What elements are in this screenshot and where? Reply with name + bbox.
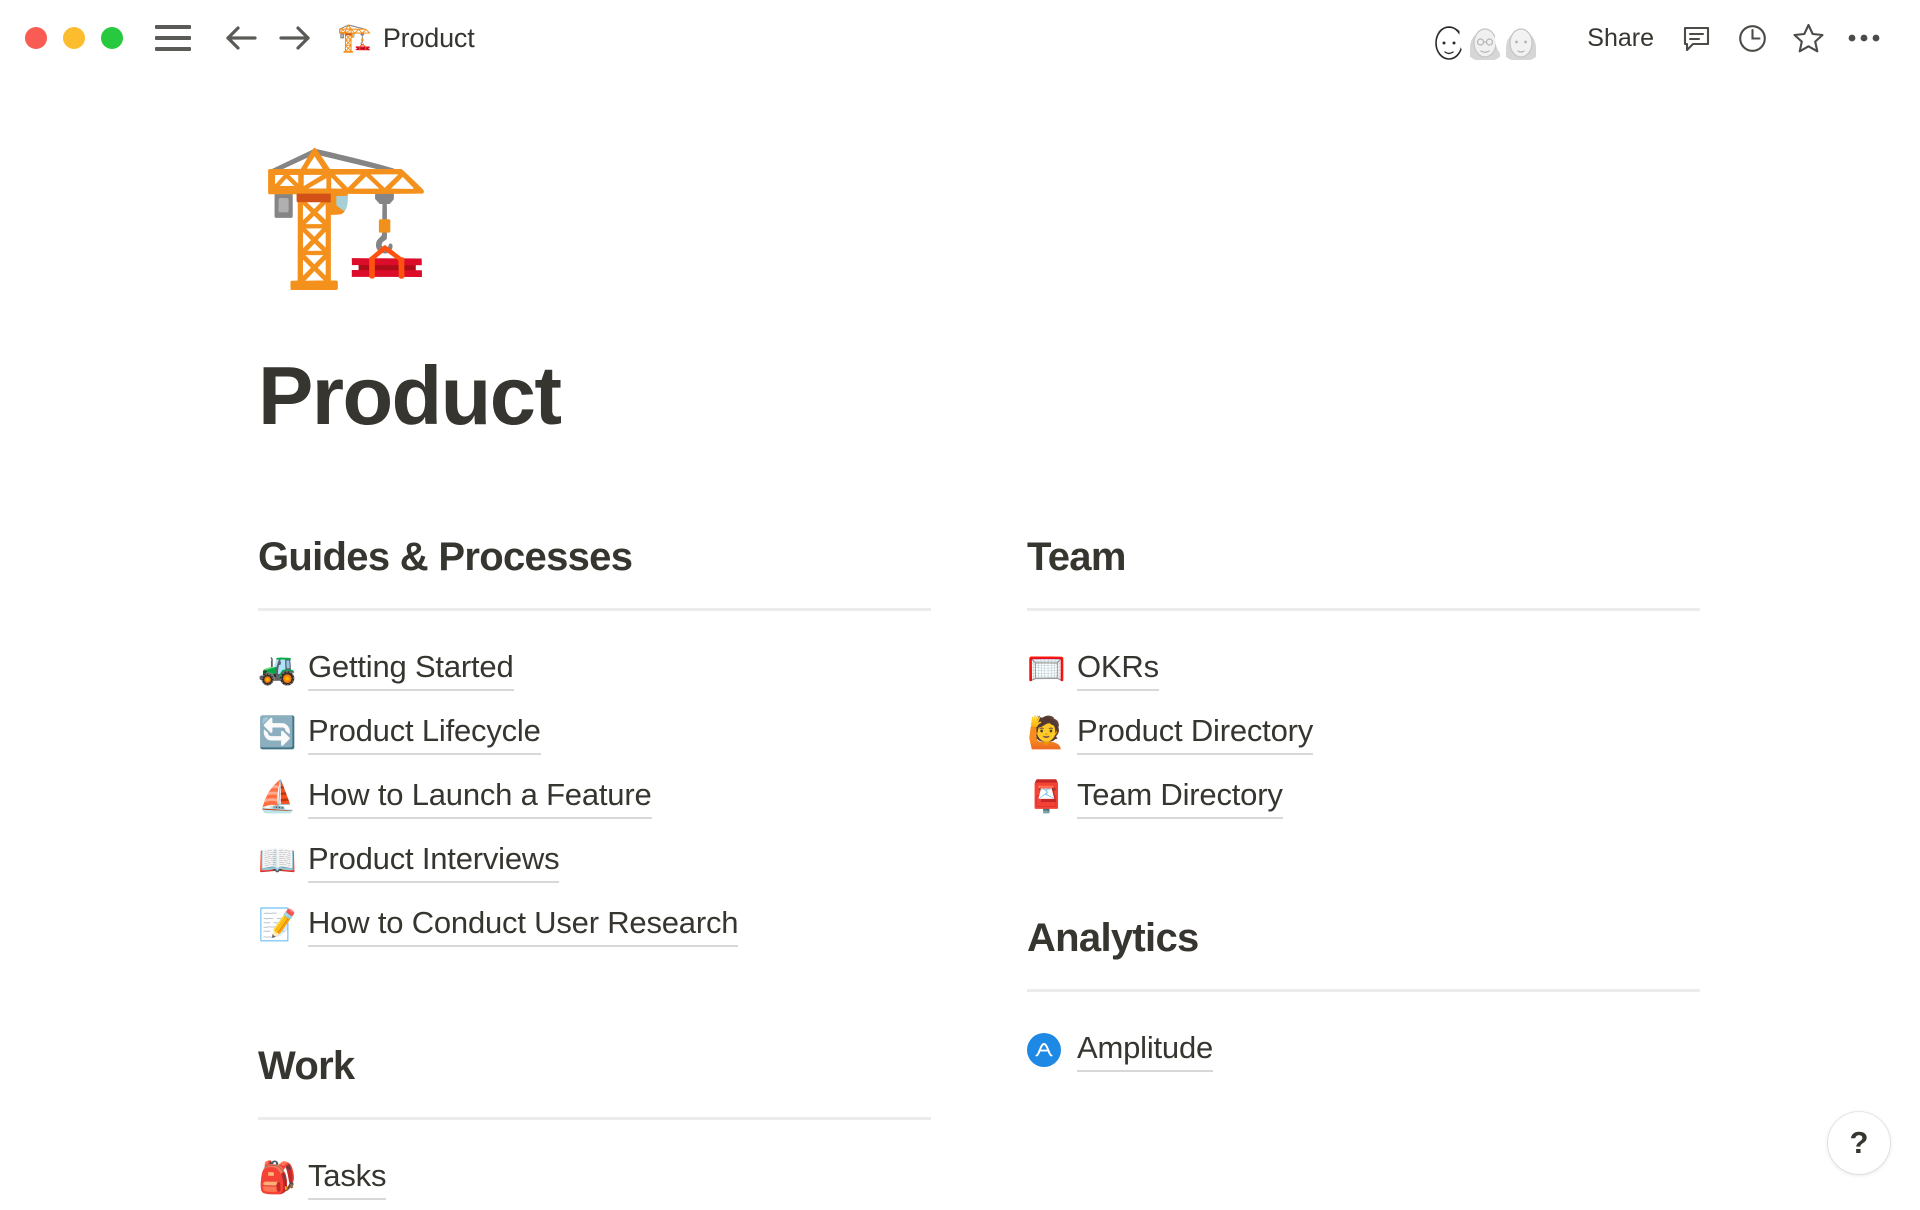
section-divider bbox=[258, 1117, 931, 1120]
list-item-label: Product Interviews bbox=[308, 840, 559, 883]
link-list: 🎒 Tasks bbox=[258, 1146, 931, 1210]
hamburger-menu-icon[interactable] bbox=[155, 24, 191, 52]
list-item-label: How to Launch a Feature bbox=[308, 776, 652, 819]
recycle-arrows-icon: 🔄 bbox=[258, 718, 296, 749]
list-item[interactable]: 🔄 Product Lifecycle bbox=[258, 701, 931, 765]
page-crane-icon[interactable]: 🏗️ bbox=[258, 134, 418, 294]
breadcrumb-label: Product bbox=[383, 23, 475, 54]
list-item-label: OKRs bbox=[1077, 648, 1159, 691]
hamburger-line bbox=[155, 47, 191, 51]
share-button[interactable]: Share bbox=[1573, 18, 1668, 59]
list-item-label: Amplitude bbox=[1077, 1029, 1213, 1072]
list-item-label: Product Lifecycle bbox=[308, 712, 541, 755]
left-column: Guides & Processes 🚜 Getting Started 🔄 P… bbox=[258, 534, 931, 1210]
amplitude-logo-icon bbox=[1027, 1033, 1065, 1067]
list-item[interactable]: 🙋 Product Directory bbox=[1027, 701, 1700, 765]
postbox-icon: 📮 bbox=[1027, 782, 1065, 813]
navigation-arrows bbox=[221, 18, 315, 58]
page-content: 🏗️ Product Guides & Processes 🚜 Getting … bbox=[0, 76, 1920, 1210]
help-button[interactable]: ? bbox=[1828, 1112, 1890, 1174]
section-heading: Work bbox=[258, 1043, 931, 1089]
close-window-button[interactable] bbox=[25, 27, 47, 49]
link-list: Amplitude bbox=[1027, 1018, 1700, 1082]
window-titlebar: 🏗️ Product bbox=[0, 0, 1920, 76]
tractor-icon: 🚜 bbox=[258, 654, 296, 685]
link-list: 🥅 OKRs 🙋 Product Directory 📮 Team Direct… bbox=[1027, 637, 1700, 829]
section-heading: Guides & Processes bbox=[258, 534, 931, 580]
hamburger-line bbox=[155, 25, 191, 29]
back-arrow-icon[interactable] bbox=[221, 18, 261, 58]
backpack-icon: 🎒 bbox=[258, 1163, 296, 1194]
section-divider bbox=[258, 608, 931, 611]
link-list: 🚜 Getting Started 🔄 Product Lifecycle ⛵ … bbox=[258, 637, 931, 957]
content-columns: Guides & Processes 🚜 Getting Started 🔄 P… bbox=[258, 534, 1860, 1210]
titlebar-actions: Share bbox=[1425, 10, 1892, 66]
breadcrumb[interactable]: 🏗️ Product bbox=[337, 23, 475, 54]
list-item[interactable]: ⛵ How to Launch a Feature bbox=[258, 765, 931, 829]
sailboat-icon: ⛵ bbox=[258, 782, 296, 813]
list-item[interactable]: 📝 How to Conduct User Research bbox=[258, 893, 931, 957]
list-item[interactable]: 📖 Product Interviews bbox=[258, 829, 931, 893]
forward-arrow-icon[interactable] bbox=[275, 18, 315, 58]
avatar-group[interactable] bbox=[1425, 14, 1545, 62]
person-raising-hand-icon: 🙋 bbox=[1027, 718, 1065, 749]
history-clock-icon[interactable] bbox=[1724, 10, 1780, 66]
list-item-label: Getting Started bbox=[308, 648, 514, 691]
favorite-star-icon[interactable] bbox=[1780, 10, 1836, 66]
list-item-label: Product Directory bbox=[1077, 712, 1313, 755]
comment-icon[interactable] bbox=[1668, 10, 1724, 66]
section-work: Work 🎒 Tasks bbox=[258, 1043, 931, 1210]
section-guides-processes: Guides & Processes 🚜 Getting Started 🔄 P… bbox=[258, 534, 931, 957]
list-item[interactable]: Amplitude bbox=[1027, 1018, 1700, 1082]
window-controls bbox=[25, 27, 123, 49]
section-team: Team 🥅 OKRs 🙋 Product Directory 📮 bbox=[1027, 534, 1700, 829]
maximize-window-button[interactable] bbox=[101, 27, 123, 49]
goal-net-icon: 🥅 bbox=[1027, 654, 1065, 685]
crane-icon: 🏗️ bbox=[337, 24, 372, 52]
memo-pencil-icon: 📝 bbox=[258, 910, 296, 941]
right-column: Team 🥅 OKRs 🙋 Product Directory 📮 bbox=[1027, 534, 1700, 1210]
section-heading: Analytics bbox=[1027, 915, 1700, 961]
more-options-icon[interactable] bbox=[1836, 10, 1892, 66]
minimize-window-button[interactable] bbox=[63, 27, 85, 49]
open-book-icon: 📖 bbox=[258, 846, 296, 877]
avatar bbox=[1497, 14, 1545, 62]
list-item-label: Tasks bbox=[308, 1157, 386, 1200]
list-item-label: How to Conduct User Research bbox=[308, 904, 738, 947]
section-divider bbox=[1027, 989, 1700, 992]
hamburger-line bbox=[155, 36, 191, 40]
page-title: Product bbox=[258, 352, 1860, 439]
section-analytics: Analytics bbox=[1027, 915, 1700, 1082]
list-item[interactable]: 🥅 OKRs bbox=[1027, 637, 1700, 701]
section-heading: Team bbox=[1027, 534, 1700, 580]
list-item[interactable]: 🚜 Getting Started bbox=[258, 637, 931, 701]
section-divider bbox=[1027, 608, 1700, 611]
list-item[interactable]: 🎒 Tasks bbox=[258, 1146, 931, 1210]
list-item-label: Team Directory bbox=[1077, 776, 1283, 819]
list-item[interactable]: 📮 Team Directory bbox=[1027, 765, 1700, 829]
